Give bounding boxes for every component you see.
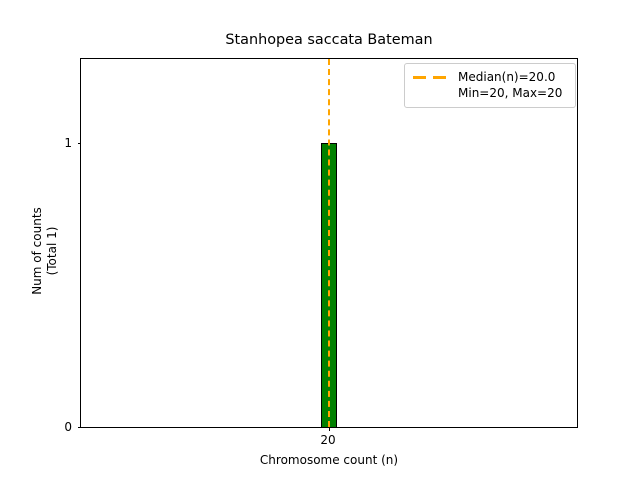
figure-canvas: Stanhopea saccata Bateman 0 1 20 Chromos… (0, 0, 640, 480)
ytick-label-0: 0 (38, 421, 72, 433)
legend-dashed-line-icon (412, 71, 450, 83)
median-line (328, 59, 330, 427)
xtick-mark-20 (329, 427, 330, 431)
plot-area (80, 58, 578, 428)
ytick-label-1: 1 (38, 137, 72, 149)
chart-title: Stanhopea saccata Bateman (80, 31, 578, 49)
legend: Median(n)=20.0 Min=20, Max=20 (404, 63, 576, 108)
x-axis-label: Chromosome count (n) (80, 453, 578, 467)
legend-entry-median: Median(n)=20.0 (412, 69, 568, 85)
legend-label-median: Median(n)=20.0 (458, 69, 555, 85)
legend-entry-minmax: Min=20, Max=20 (412, 85, 568, 101)
legend-label-minmax: Min=20, Max=20 (458, 85, 562, 101)
ytick-mark-1 (78, 143, 82, 144)
xtick-label-20: 20 (303, 434, 353, 446)
ytick-mark-0 (78, 427, 82, 428)
